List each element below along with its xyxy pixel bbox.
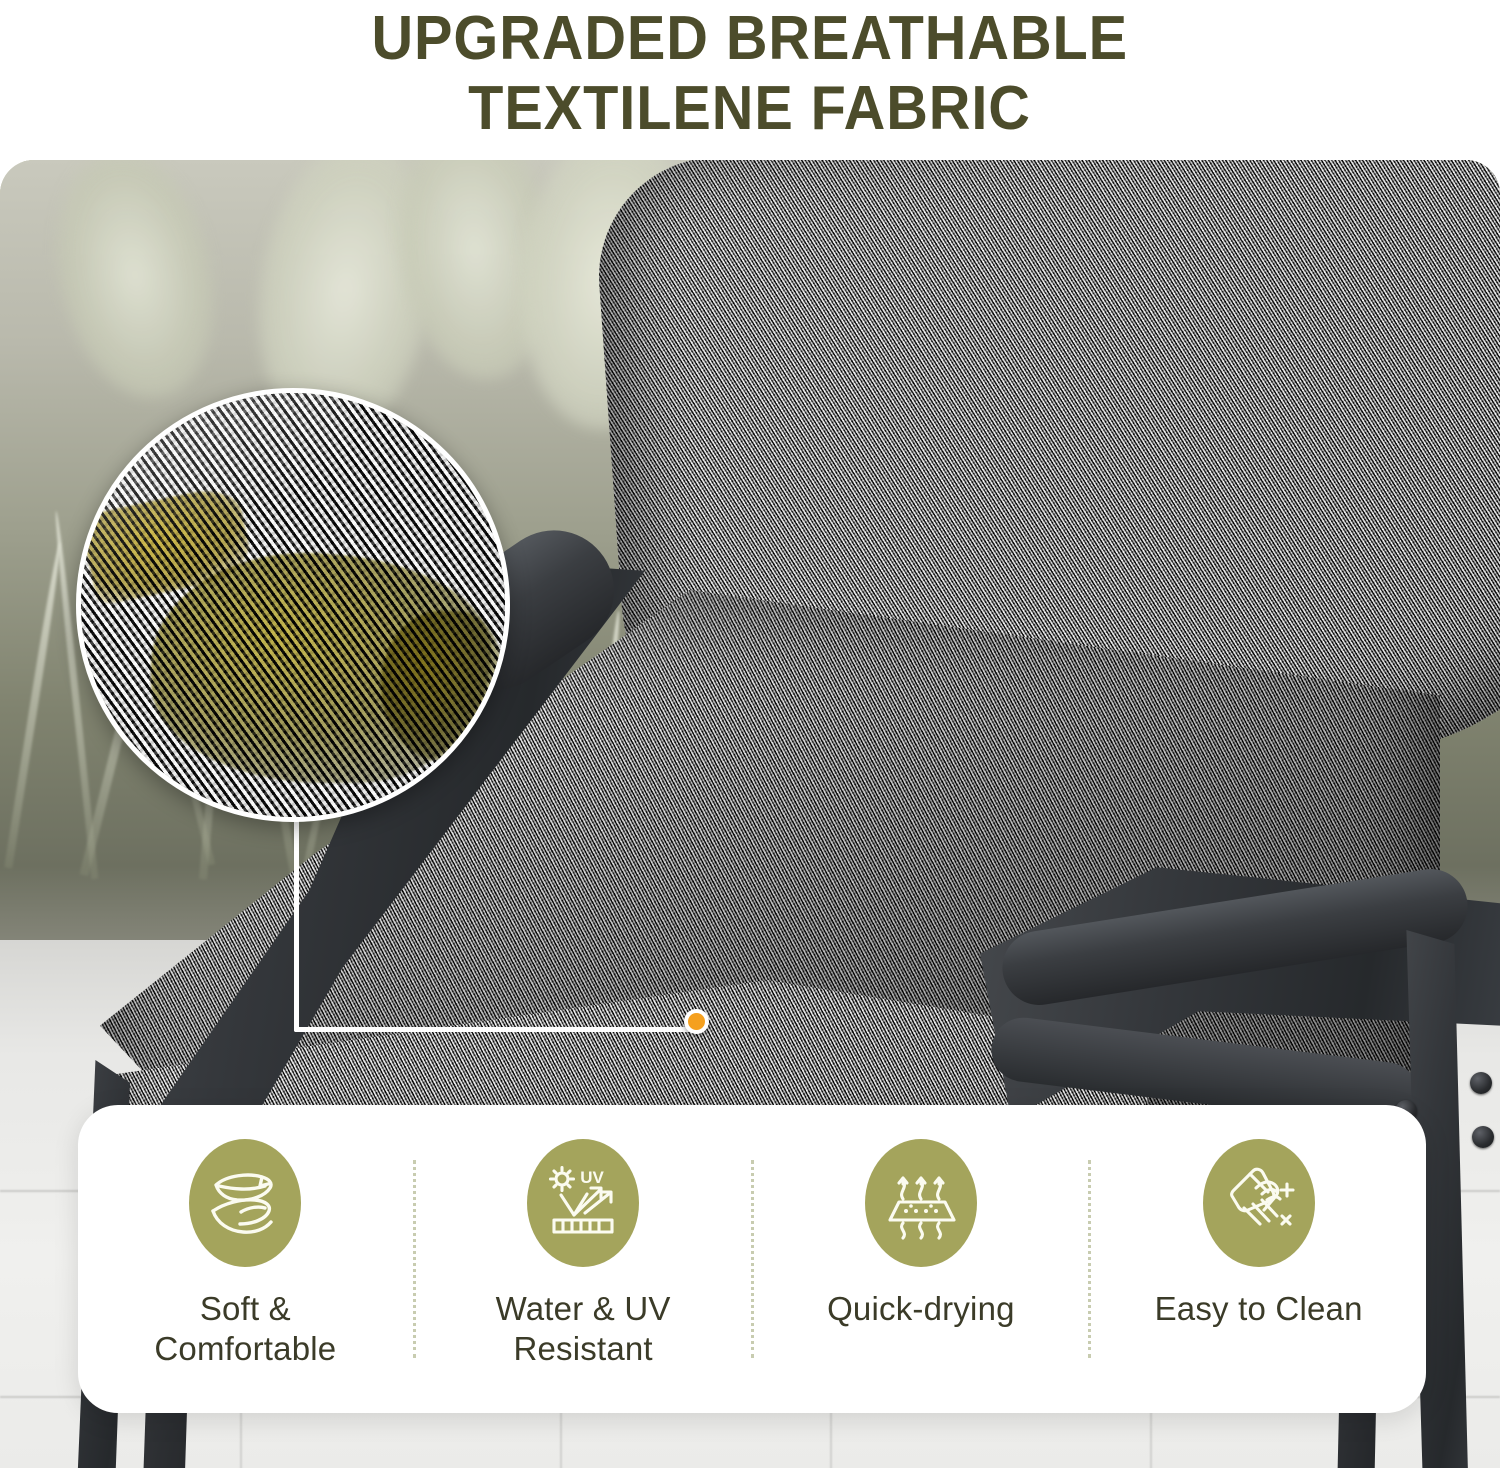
feature-easy-to-clean: Easy to Clean [1091,1105,1426,1413]
sun-uv-shield-icon: UV [527,1139,639,1267]
feature-soft-comfortable: Soft & Comfortable [78,1105,413,1413]
callout-line-vertical [294,810,299,1032]
liquid-spill-drip [381,611,501,761]
feature-water-uv-resistant: UV Water & UV Resistant [416,1105,751,1413]
leaf-in-hand-icon [189,1139,301,1267]
headline-line-2: TEXTILENE FABRIC [469,74,1032,144]
callout-line-horizontal [294,1027,702,1032]
frame-rivet [1470,1072,1492,1094]
feature-label: Water & UV Resistant [496,1289,671,1369]
air-flow-fabric-icon [865,1139,977,1267]
magnifier-gloss [76,388,351,583]
feature-quick-drying: Quick-drying [754,1105,1089,1413]
frame-rivet [1472,1126,1494,1148]
feature-label: Easy to Clean [1155,1289,1363,1329]
feature-label: Soft & Comfortable [154,1289,336,1369]
wiping-cloth-sparkle-icon [1203,1139,1315,1267]
feature-benefits-card: Soft & Comfortable UV Water & UV Resista… [78,1105,1426,1413]
headline-block: UPGRADED BREATHABLE TEXTILENE FABRIC [0,0,1500,152]
svg-text:UV: UV [580,1168,604,1187]
headline-line-1: UPGRADED BREATHABLE [372,4,1129,74]
callout-hotspot-dot [684,1009,709,1034]
feature-label: Quick-drying [827,1289,1015,1329]
fabric-closeup-magnifier [76,388,510,822]
